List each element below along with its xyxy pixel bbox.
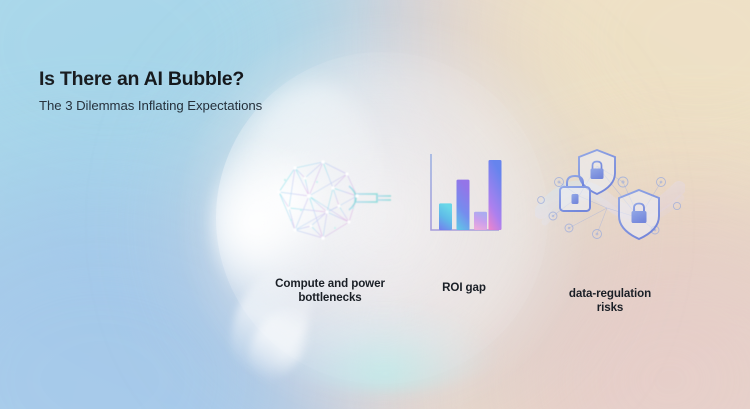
network-plug-icon: [252, 148, 408, 257]
pillar-data-caption-line2: risks: [597, 301, 624, 314]
header-block: Is There an AI Bubble? The 3 Dilemmas In…: [39, 68, 262, 114]
pillar-compute[interactable]: Compute and power bottlenecks: [252, 148, 408, 306]
pillar-compute-caption-line2: bottlenecks: [298, 291, 361, 304]
page-title: Is There an AI Bubble?: [39, 68, 262, 90]
pillar-compute-caption-line1: Compute and power: [275, 277, 385, 290]
pillar-roi[interactable]: ROI gap: [404, 148, 524, 295]
pillar-roi-caption-line1: ROI gap: [442, 281, 486, 294]
page-subtitle: The 3 Dilemmas Inflating Expectations: [39, 98, 262, 114]
bar-chart-icon: [404, 148, 524, 245]
shield-lock-network-icon: [520, 142, 700, 259]
pillar-data-caption-line1: data-regulation: [569, 287, 651, 300]
pillar-compute-caption: Compute and power bottlenecks: [252, 263, 408, 306]
slide-canvas: Is There an AI Bubble? The 3 Dilemmas In…: [0, 0, 750, 409]
pillar-roi-caption: ROI gap: [404, 251, 524, 295]
pillar-data[interactable]: data-regulation risks: [520, 142, 700, 316]
pillar-data-caption: data-regulation risks: [520, 265, 700, 316]
